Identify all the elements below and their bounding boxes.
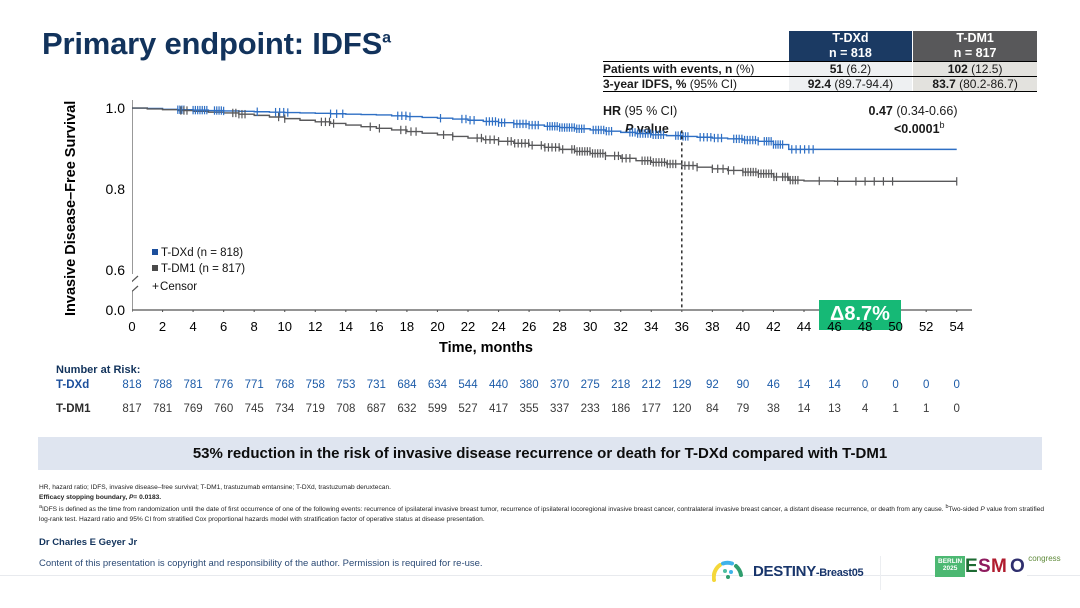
x-axis-tick: 18 bbox=[400, 319, 414, 334]
x-axis-tick: 34 bbox=[644, 319, 658, 334]
x-axis-tick: 40 bbox=[736, 319, 750, 334]
summary-row-0-tdm1-norm: (12.5) bbox=[968, 62, 1003, 76]
svg-text:E: E bbox=[965, 556, 977, 576]
x-axis-tick: 2 bbox=[159, 319, 166, 334]
risk-value: 14 bbox=[798, 379, 811, 391]
destiny-breast05-logo: DESTINY-Breast05 bbox=[712, 560, 863, 582]
risk-value: 0 bbox=[862, 379, 868, 391]
x-axis-tick: 36 bbox=[675, 319, 689, 334]
summary-header-tdm1-name: T-DM1 bbox=[913, 31, 1037, 46]
esmo-berlin-line2: 2025 bbox=[938, 566, 962, 573]
summary-header-tdm1: T-DM1 n = 817 bbox=[913, 31, 1037, 61]
summary-row-0-tdxd: 51 (6.2) bbox=[789, 61, 913, 76]
risk-value: 275 bbox=[581, 379, 600, 391]
risk-value: 380 bbox=[519, 379, 538, 391]
risk-value: 745 bbox=[245, 403, 264, 415]
chart-plot-area: Δ8.7% 1.00.80.60.00246810121416182022242… bbox=[132, 100, 972, 312]
svg-text:O: O bbox=[1010, 556, 1024, 576]
footer-divider bbox=[0, 575, 1080, 576]
summary-header-tdxd-name: T-DXd bbox=[789, 31, 913, 46]
page-title-text: Primary endpoint: IDFS bbox=[42, 26, 382, 61]
risk-value: 92 bbox=[706, 379, 719, 391]
summary-row-1-tdxd-bold: 92.4 bbox=[808, 77, 831, 91]
table-row: 3-year IDFS, % (95% CI) 92.4 (89.7-94.4)… bbox=[603, 76, 1037, 91]
risk-value: 753 bbox=[336, 379, 355, 391]
destiny-logo-main: DESTINY bbox=[753, 563, 816, 580]
x-axis-tick: 38 bbox=[705, 319, 719, 334]
risk-value: 769 bbox=[183, 403, 202, 415]
summary-row-1-tdm1: 83.7 (80.2-86.7) bbox=[913, 76, 1037, 91]
risk-value: 632 bbox=[397, 403, 416, 415]
risk-value: 781 bbox=[153, 403, 172, 415]
footer-logo-separator bbox=[880, 556, 881, 590]
footnote-abbreviations: HR, hazard ratio; IDFS, invasive disease… bbox=[39, 483, 1045, 493]
risk-value: 768 bbox=[275, 379, 294, 391]
summary-row-0-label-bold: Patients with events, n bbox=[603, 62, 732, 76]
summary-row-1-label-bold: 3-year IDFS, % bbox=[603, 77, 686, 91]
summary-row-0-tdxd-bold: 51 bbox=[830, 62, 843, 76]
number-at-risk-table: Number at Risk: T-DXd 818788781776771768… bbox=[56, 364, 1016, 424]
summary-row-1-tdxd-norm: (89.7-94.4) bbox=[831, 77, 893, 91]
legend-swatch-tdxd-icon bbox=[152, 249, 158, 255]
risk-value: 818 bbox=[122, 379, 141, 391]
footnotes: HR, hazard ratio; IDFS, invasive disease… bbox=[39, 483, 1045, 525]
risk-value: 212 bbox=[642, 379, 661, 391]
risk-value: 0 bbox=[954, 379, 960, 391]
risk-value: 186 bbox=[611, 403, 630, 415]
summary-table: T-DXd n = 818 T-DM1 n = 817 Patients wit… bbox=[603, 31, 1037, 92]
x-axis-tick: 20 bbox=[430, 319, 444, 334]
x-axis-tick: 26 bbox=[522, 319, 536, 334]
summary-row-1-tdm1-bold: 83.7 bbox=[932, 77, 955, 91]
copyright-notice: Content of this presentation is copyrigh… bbox=[39, 558, 483, 569]
risk-value: 1 bbox=[892, 403, 898, 415]
x-axis-tick: 50 bbox=[888, 319, 902, 334]
risk-value: 4 bbox=[862, 403, 868, 415]
risk-value: 0 bbox=[954, 403, 960, 415]
x-axis-tick: 42 bbox=[766, 319, 780, 334]
x-axis-tick: 52 bbox=[919, 319, 933, 334]
summary-row-0-tdm1: 102 (12.5) bbox=[913, 61, 1037, 76]
legend-label-censor: Censor bbox=[160, 281, 197, 293]
risk-value: 758 bbox=[306, 379, 325, 391]
footnote-stopping-boundary: Efficacy stopping boundary, P= 0.0183. bbox=[39, 493, 1045, 503]
table-row: T-DXd 8187887817767717687587537316846345… bbox=[56, 379, 1016, 400]
x-axis-tick: 30 bbox=[583, 319, 597, 334]
esmo-congress-word: congress bbox=[1028, 554, 1060, 563]
risk-value: 13 bbox=[828, 403, 841, 415]
esmo-congress-logo: BERLIN 2025 E S M O congress bbox=[935, 556, 1061, 581]
km-curves-svg bbox=[132, 100, 972, 312]
x-axis-tick: 10 bbox=[277, 319, 291, 334]
y-axis-tick: 1.0 bbox=[106, 100, 125, 116]
x-axis-tick: 14 bbox=[339, 319, 353, 334]
table-row: Patients with events, n (%) 51 (6.2) 102… bbox=[603, 61, 1037, 76]
risk-value: 684 bbox=[397, 379, 416, 391]
y-axis-tick: 0.0 bbox=[106, 302, 125, 318]
slide-root: Primary endpoint: IDFSa T-DXd n = 818 T-… bbox=[0, 0, 1080, 608]
x-axis-tick: 4 bbox=[189, 319, 196, 334]
risk-value: 38 bbox=[767, 403, 780, 415]
summary-table-corner bbox=[603, 31, 789, 61]
risk-value: 14 bbox=[798, 403, 811, 415]
summary-row-1-tdm1-norm: (80.2-86.7) bbox=[956, 77, 1018, 91]
risk-value: 760 bbox=[214, 403, 233, 415]
key-message-banner: 53% reduction in the risk of invasive di… bbox=[38, 437, 1042, 470]
legend-item-tdm1: T-DM1 (n = 817) bbox=[152, 261, 245, 277]
risk-value: 355 bbox=[519, 403, 538, 415]
x-axis-tick: 8 bbox=[251, 319, 258, 334]
summary-row-0-label: Patients with events, n (%) bbox=[603, 61, 789, 76]
footnote-a-text: IDFS is defined as the time from randomi… bbox=[42, 506, 945, 513]
legend-item-tdxd: T-DXd (n = 818) bbox=[152, 245, 245, 261]
risk-value: 233 bbox=[581, 403, 600, 415]
esmo-letters-group: E S M O bbox=[965, 556, 1027, 581]
risk-value: 817 bbox=[122, 403, 141, 415]
esmo-berlin-badge: BERLIN 2025 bbox=[935, 556, 965, 577]
destiny-logo-mark-icon bbox=[712, 560, 746, 582]
summary-header-tdxd-n: n = 818 bbox=[789, 46, 913, 61]
risk-value: 719 bbox=[306, 403, 325, 415]
summary-row-1-label-norm: (95% CI) bbox=[686, 77, 737, 91]
footnote-definitions: aIDFS is defined as the time from random… bbox=[39, 503, 1045, 525]
number-at-risk-title: Number at Risk: bbox=[56, 364, 1016, 376]
x-axis-tick: 28 bbox=[552, 319, 566, 334]
page-title-superscript: a bbox=[382, 30, 391, 47]
chart-legend: T-DXd (n = 818) T-DM1 (n = 817) +Censor bbox=[152, 245, 245, 295]
risk-value: 599 bbox=[428, 403, 447, 415]
risk-value: 337 bbox=[550, 403, 569, 415]
x-axis-tick: 0 bbox=[128, 319, 135, 334]
x-axis-tick: 16 bbox=[369, 319, 383, 334]
risk-row-label-tdm1: T-DM1 bbox=[56, 403, 91, 415]
risk-value: 177 bbox=[642, 403, 661, 415]
legend-label-tdxd: T-DXd (n = 818) bbox=[161, 247, 243, 259]
risk-value: 776 bbox=[214, 379, 233, 391]
risk-value: 687 bbox=[367, 403, 386, 415]
risk-value: 79 bbox=[737, 403, 750, 415]
risk-value: 14 bbox=[828, 379, 841, 391]
censor-plus-icon: + bbox=[152, 279, 159, 293]
risk-value: 370 bbox=[550, 379, 569, 391]
svg-text:S: S bbox=[978, 556, 990, 576]
risk-value: 129 bbox=[672, 379, 691, 391]
risk-value: 781 bbox=[183, 379, 202, 391]
risk-value: 527 bbox=[458, 403, 477, 415]
x-axis-label: Time, months bbox=[66, 340, 906, 356]
footnote-stopping-rest: = 0.0183. bbox=[133, 494, 161, 501]
risk-value: 46 bbox=[767, 379, 780, 391]
risk-value: 708 bbox=[336, 403, 355, 415]
risk-value: 734 bbox=[275, 403, 294, 415]
y-axis-tick: 0.8 bbox=[106, 181, 125, 197]
summary-table-header-row: T-DXd n = 818 T-DM1 n = 817 bbox=[603, 31, 1037, 61]
risk-value: 1 bbox=[923, 403, 929, 415]
risk-value: 90 bbox=[737, 379, 750, 391]
x-axis-tick: 32 bbox=[613, 319, 627, 334]
presenter-name: Dr Charles E Geyer Jr bbox=[39, 537, 137, 548]
destiny-logo-sub: -Breast05 bbox=[816, 567, 863, 579]
risk-value: 544 bbox=[458, 379, 477, 391]
risk-value: 417 bbox=[489, 403, 508, 415]
summary-row-1-tdxd: 92.4 (89.7-94.4) bbox=[789, 76, 913, 91]
x-axis-tick: 48 bbox=[858, 319, 872, 334]
summary-row-0-tdxd-norm: (6.2) bbox=[843, 62, 871, 76]
risk-value: 634 bbox=[428, 379, 447, 391]
destiny-logo-text: DESTINY-Breast05 bbox=[753, 563, 863, 580]
footnote-b-pre: Two-sided bbox=[948, 506, 980, 513]
legend-label-tdm1: T-DM1 (n = 817) bbox=[161, 263, 245, 275]
legend-swatch-tdm1-icon bbox=[152, 265, 158, 271]
risk-row-label-tdxd: T-DXd bbox=[56, 379, 89, 391]
footnote-stopping-bold: Efficacy stopping boundary, bbox=[39, 494, 127, 501]
y-axis-tick: 0.6 bbox=[106, 262, 125, 278]
x-axis-tick: 22 bbox=[461, 319, 475, 334]
table-row: T-DM1 8177817697607457347197086876325995… bbox=[56, 403, 1016, 424]
summary-row-0-tdm1-bold: 102 bbox=[948, 62, 968, 76]
x-axis-tick: 44 bbox=[797, 319, 811, 334]
esmo-letters-icon: E S M O bbox=[965, 556, 1027, 576]
risk-value: 0 bbox=[923, 379, 929, 391]
x-axis-tick: 24 bbox=[491, 319, 505, 334]
kaplan-meier-chart: Invasive Disease–Free Survival Δ8.7% 1.0… bbox=[66, 100, 986, 350]
page-title: Primary endpoint: IDFSa bbox=[42, 26, 391, 62]
summary-header-tdxd: T-DXd n = 818 bbox=[789, 31, 913, 61]
svg-text:M: M bbox=[991, 556, 1006, 576]
y-axis-label: Invasive Disease–Free Survival bbox=[60, 98, 82, 318]
summary-row-0-label-norm: (%) bbox=[732, 62, 754, 76]
risk-value: 788 bbox=[153, 379, 172, 391]
key-message-text: 53% reduction in the risk of invasive di… bbox=[193, 445, 887, 462]
risk-value: 0 bbox=[892, 379, 898, 391]
x-axis-tick: 46 bbox=[827, 319, 841, 334]
risk-value: 120 bbox=[672, 403, 691, 415]
risk-value: 218 bbox=[611, 379, 630, 391]
summary-header-tdm1-n: n = 817 bbox=[913, 46, 1037, 61]
x-axis-tick: 54 bbox=[949, 319, 963, 334]
x-axis-tick: 6 bbox=[220, 319, 227, 334]
x-axis-tick: 12 bbox=[308, 319, 322, 334]
risk-value: 84 bbox=[706, 403, 719, 415]
summary-row-1-label: 3-year IDFS, % (95% CI) bbox=[603, 76, 789, 91]
risk-value: 440 bbox=[489, 379, 508, 391]
risk-value: 731 bbox=[367, 379, 386, 391]
risk-value: 771 bbox=[245, 379, 264, 391]
legend-item-censor: +Censor bbox=[152, 278, 245, 295]
